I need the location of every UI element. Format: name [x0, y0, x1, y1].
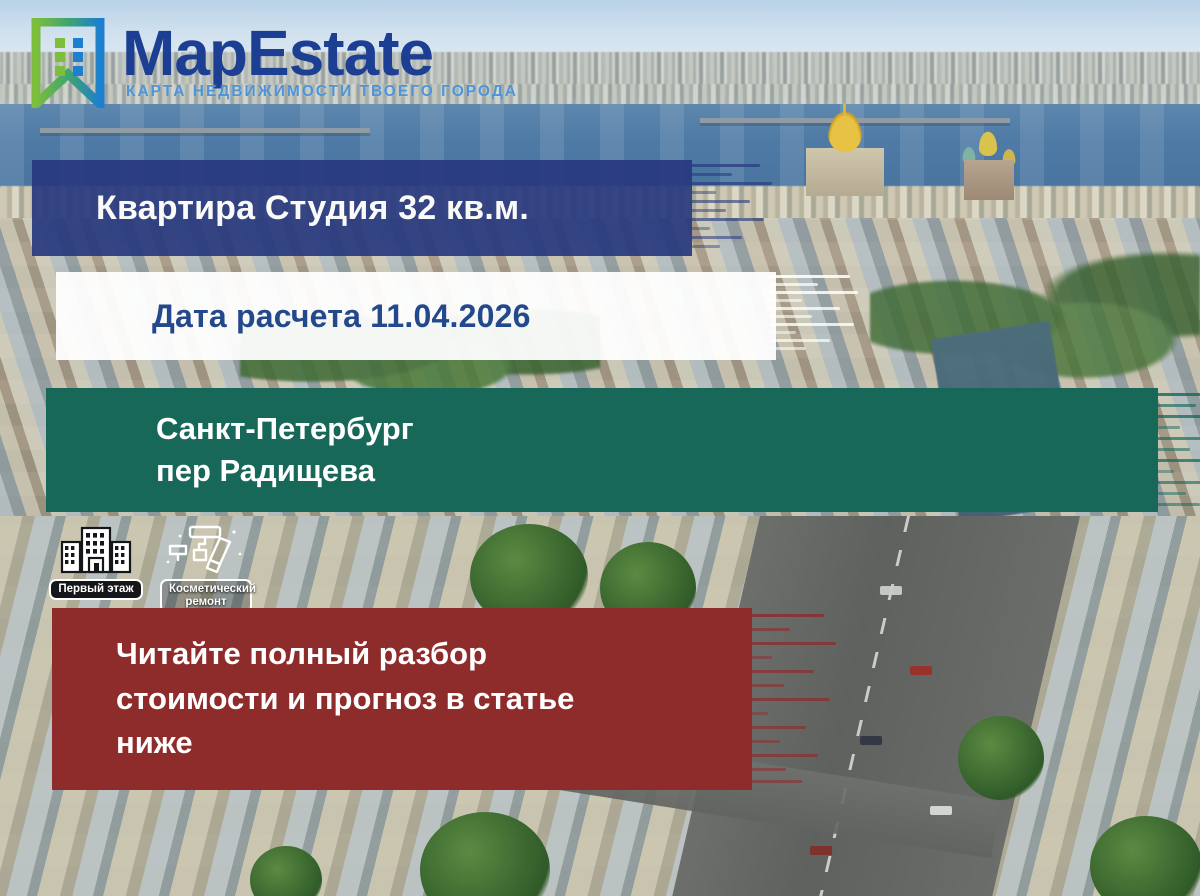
- cta-line-1: Читайте полный разбор: [116, 632, 752, 677]
- brand-name-part1: Map: [122, 22, 247, 85]
- paint-roller-brush-icon: [164, 524, 248, 576]
- car: [810, 846, 832, 855]
- badge-label-line2: ремонт: [185, 596, 226, 608]
- badge-first-floor-label: Первый этаж: [49, 579, 142, 600]
- car: [910, 666, 932, 675]
- car: [880, 586, 902, 595]
- real-estate-promo-poster: MapEstate КАРТА НЕДВИЖИМОСТИ ТВОЕГО ГОРО…: [0, 0, 1200, 896]
- feature-badges: Первый этаж: [48, 524, 254, 613]
- location-city: Санкт-Петербург: [156, 409, 1158, 449]
- car: [930, 806, 952, 815]
- cta-band: Читайте полный разбор стоимости и прогно…: [52, 608, 752, 790]
- street-tree: [958, 716, 1044, 800]
- property-title: Квартира Студия 32 кв.м.: [96, 189, 692, 228]
- brand-wordmark: MapEstate КАРТА НЕДВИЖИМОСТИ ТВОЕГО ГОРО…: [122, 22, 518, 101]
- apartment-building-icon: [58, 524, 134, 576]
- savior-on-spilled-blood: [960, 130, 1020, 200]
- golden-dome-icon: [828, 112, 862, 152]
- property-title-band: Квартира Студия 32 кв.м.: [32, 160, 692, 256]
- cta-line-2: стоимости и прогноз в статье: [116, 677, 752, 722]
- brand-tagline: КАРТА НЕДВИЖИМОСТИ ТВОЕГО ГОРОДА: [126, 83, 518, 101]
- brand-logo[interactable]: MapEstate КАРТА НЕДВИЖИМОСТИ ТВОЕГО ГОРО…: [28, 18, 518, 108]
- car: [860, 736, 882, 745]
- bookmark-building-icon: [28, 18, 108, 108]
- location-band: Санкт-Петербург пер Радищева: [46, 388, 1158, 512]
- saint-isaacs-cathedral: [806, 148, 884, 196]
- calculation-date-band: Дата расчета 11.04.2026: [56, 272, 776, 360]
- calculation-date: Дата расчета 11.04.2026: [152, 298, 776, 335]
- brand-name-part2: Estate: [247, 22, 433, 85]
- cta-line-3: ниже: [116, 721, 752, 766]
- badge-first-floor[interactable]: Первый этаж: [48, 524, 144, 600]
- badge-cosmetic-renovation[interactable]: Косметический ремонт: [158, 524, 254, 613]
- brand-name: MapEstate: [122, 22, 518, 85]
- bridge-left-icon: [40, 128, 370, 133]
- church-base: [964, 160, 1014, 200]
- badge-label-line1: Косметический: [169, 583, 256, 595]
- church-dome-main: [978, 130, 998, 156]
- location-street: пер Радищева: [156, 451, 1158, 491]
